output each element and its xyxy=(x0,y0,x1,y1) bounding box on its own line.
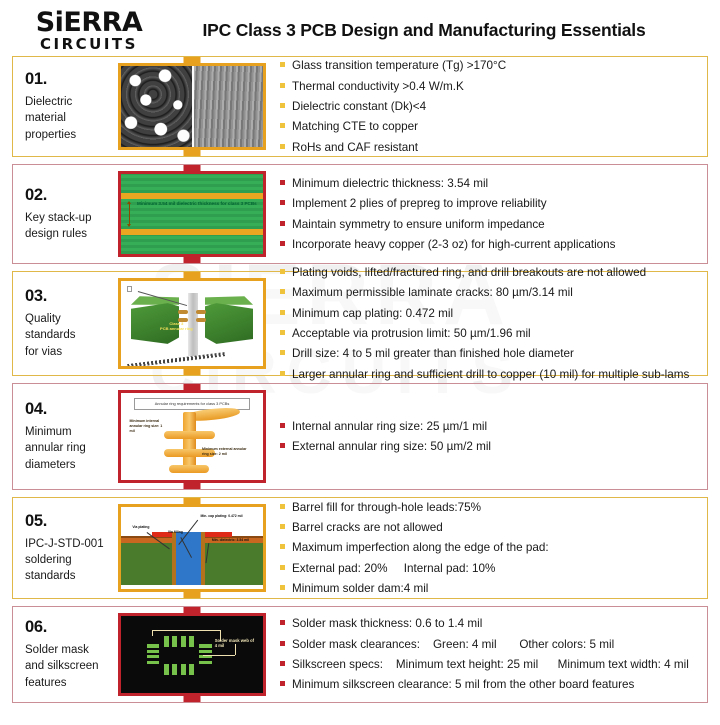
connector-tab-top xyxy=(184,57,201,65)
sem-right-texture xyxy=(192,66,263,147)
section-01-number: 01. xyxy=(25,70,114,89)
bullet-text: Barrel cracks are not allowed xyxy=(292,520,443,535)
dielectric-sem-micrograph xyxy=(118,63,266,150)
annular-ring-barrel xyxy=(183,412,196,473)
component-pad xyxy=(189,636,194,647)
via-board-right xyxy=(205,303,253,344)
bullet-dot-icon xyxy=(280,585,285,590)
bullet-dot-icon xyxy=(280,620,285,625)
bullet-item: Incorporate heavy copper (2-3 oz) for hi… xyxy=(280,237,699,252)
bullet-item: Thermal conductivity >0.4 W/m.K xyxy=(280,79,699,94)
bullet-item: Drill size: 4 to 5 mil greater than fini… xyxy=(280,346,699,361)
component-pad xyxy=(147,661,160,664)
bullet-text: Incorporate heavy copper (2-3 oz) for hi… xyxy=(292,237,616,252)
bullet-text: External annular ring size: 50 µm/2 mil xyxy=(292,439,491,454)
annular-ring-diagram: Annular ring requirements for class 3 PC… xyxy=(118,390,266,483)
section-03-number: 03. xyxy=(25,287,114,306)
via-scale-bar xyxy=(127,352,226,366)
bullet-text: Plating voids, lifted/fractured ring, an… xyxy=(292,265,646,280)
dimension-arrow-icon xyxy=(129,202,130,226)
section-02-bullets: Minimum dielectric thickness: 3.54 mil I… xyxy=(266,165,707,263)
sem-left-texture xyxy=(121,66,192,147)
section-01-bullets: Glass transition temperature (Tg) >170°C… xyxy=(266,57,707,156)
bullet-dot-icon xyxy=(280,681,285,686)
bullet-text: Minimum solder dam:4 mil xyxy=(292,581,428,596)
bullet-text: Barrel fill for through-hole leads:75% xyxy=(292,500,481,515)
connector-tab-top xyxy=(184,498,201,506)
component-pad xyxy=(172,636,177,647)
bullet-item: External pad: 20% Internal pad: 10% xyxy=(280,561,699,576)
bullet-dot-icon xyxy=(280,443,285,448)
component-pad xyxy=(199,650,212,653)
section-02-title: Key stack-up design rules xyxy=(25,210,114,243)
component-pad xyxy=(199,644,212,647)
connector-tab-top xyxy=(184,607,201,615)
callout-line xyxy=(203,655,234,656)
component-pad xyxy=(181,664,186,675)
bullet-text: External pad: 20% Internal pad: 10% xyxy=(292,561,495,576)
section-03-label: 03. Quality standards for vias xyxy=(13,272,114,375)
via-annular-pad xyxy=(196,318,206,322)
callout-line xyxy=(152,630,153,636)
bullet-text: Drill size: 4 to 5 mil greater than fini… xyxy=(292,346,574,361)
bullet-dot-icon xyxy=(280,371,285,376)
via-illustration: Class 3 PCB annular ring xyxy=(121,281,263,366)
bullet-dot-icon xyxy=(280,350,285,355)
bullet-item: Internal annular ring size: 25 µm/1 mil xyxy=(280,419,699,434)
connector-tab-bottom xyxy=(184,255,201,263)
bullet-dot-icon xyxy=(280,83,285,88)
bullet-item: Minimum dielectric thickness: 3.54 mil xyxy=(280,176,699,191)
bullet-item: Matching CTE to copper xyxy=(280,119,699,134)
bullet-item: Solder mask clearances: Green: 4 mil Oth… xyxy=(280,637,699,652)
bullet-item: Maintain symmetry to ensure uniform impe… xyxy=(280,217,699,232)
bullet-text: Maximum permissible laminate cracks: 80 … xyxy=(292,285,573,300)
bullet-text: Minimum dielectric thickness: 3.54 mil xyxy=(292,176,488,191)
connector-tab-bottom xyxy=(184,590,201,598)
bullet-item: Dielectric constant (Dk)<4 xyxy=(280,99,699,114)
stackup-dielectric-layer: Minimum 3.54 mil dielectric thickness fo… xyxy=(121,199,263,229)
component-pad xyxy=(181,636,186,647)
solder-note-dielectric: Min. dielectric: 3.54 mil xyxy=(212,538,257,542)
stackup-caption: Minimum 3.54 mil dielectric thickness fo… xyxy=(137,201,259,207)
sierra-circuits-logo: SiERRA CIRCUITS xyxy=(14,9,164,52)
sem-divider xyxy=(192,66,194,147)
bullet-text: Dielectric constant (Dk)<4 xyxy=(292,99,426,114)
bullet-dot-icon xyxy=(280,62,285,67)
pcb-stackup-diagram: Minimum 3.54 mil dielectric thickness fo… xyxy=(118,171,266,257)
callout-line xyxy=(152,630,220,631)
bullet-item: Barrel fill for through-hole leads:75% xyxy=(280,500,699,515)
bullet-text: Larger annular ring and sufficient drill… xyxy=(292,367,689,382)
bullet-dot-icon xyxy=(280,641,285,646)
bullet-dot-icon xyxy=(280,269,285,274)
bullet-dot-icon xyxy=(280,180,285,185)
component-pad xyxy=(164,636,169,647)
bullet-text: Minimum silkscreen clearance: 5 mil from… xyxy=(292,677,634,692)
bullet-dot-icon xyxy=(280,144,285,149)
component-pad xyxy=(172,664,177,675)
stackup-layer-top-core xyxy=(121,174,263,193)
solder-mask-silkscreen-diagram: Solder mask web of 4 mil xyxy=(118,613,266,696)
bullet-dot-icon xyxy=(280,103,285,108)
section-04-minimum-annular-ring-diameters: 04. Minimum annular ring diameters Annul… xyxy=(12,383,708,490)
bullet-text: Solder mask clearances: Green: 4 mil Oth… xyxy=(292,637,614,652)
connector-tab-bottom xyxy=(184,148,201,156)
section-04-title: Minimum annular ring diameters xyxy=(25,424,114,473)
bullet-dot-icon xyxy=(280,123,285,128)
stackup-layers: Minimum 3.54 mil dielectric thickness fo… xyxy=(121,174,263,254)
bullet-dot-icon xyxy=(280,200,285,205)
bullet-text: Internal annular ring size: 25 µm/1 mil xyxy=(292,419,487,434)
sections-list: 01. Dielectric material properties Glass… xyxy=(0,56,720,703)
bullet-item: Silkscreen specs: Minimum text height: 2… xyxy=(280,657,699,672)
component-pad xyxy=(189,664,194,675)
bullet-dot-icon xyxy=(280,310,285,315)
component-pad xyxy=(147,644,160,647)
annular-ring-bottom-pad xyxy=(169,465,209,473)
bullet-item: Acceptable via protrusion limit: 50 µm/1… xyxy=(280,326,699,341)
bullet-text: Minimum cap plating: 0.472 mil xyxy=(292,306,453,321)
section-03-title: Quality standards for vias xyxy=(25,311,114,360)
bullet-item: RoHs and CAF resistant xyxy=(280,140,699,155)
bullet-dot-icon xyxy=(280,289,285,294)
bullet-dot-icon xyxy=(280,661,285,666)
bullet-item: Maximum permissible laminate cracks: 80 … xyxy=(280,285,699,300)
bullet-dot-icon xyxy=(280,524,285,529)
page-title: IPC Class 3 PCB Design and Manufacturing… xyxy=(164,20,720,41)
solder-bottom-layer xyxy=(121,585,263,589)
bullet-item: Barrel cracks are not allowed xyxy=(280,520,699,535)
via-caption: Class 3 PCB annular ring xyxy=(159,321,193,331)
figure-art: Minimum 3.54 mil dielectric thickness fo… xyxy=(121,174,263,254)
bullet-text: Glass transition temperature (Tg) >170°C xyxy=(292,58,506,73)
soldering-cross-section-diagram: Via plating Via filling Min. cap plating… xyxy=(118,504,266,592)
section-05-title: IPC-J-STD-001 soldering standards xyxy=(25,536,114,585)
connector-tab-top xyxy=(184,384,201,392)
via-callout-tag xyxy=(127,286,132,292)
section-05-bullets: Barrel fill for through-hole leads:75% B… xyxy=(266,498,707,598)
section-03-quality-standards-for-vias: 03. Quality standards for vias Class 3 P… xyxy=(12,271,708,376)
bullet-dot-icon xyxy=(280,504,285,509)
section-04-label: 04. Minimum annular ring diameters xyxy=(13,384,114,489)
bullet-text: Solder mask thickness: 0.6 to 1.4 mil xyxy=(292,616,482,631)
section-05-label: 05. IPC-J-STD-001 soldering standards xyxy=(13,498,114,598)
bullet-text: Acceptable via protrusion limit: 50 µm/1… xyxy=(292,326,531,341)
section-06-solder-mask-and-silkscreen-features: 06. Solder mask and silkscreen features xyxy=(12,606,708,703)
section-04-number: 04. xyxy=(25,400,114,419)
logo-wordmark: SiERRA xyxy=(36,9,143,36)
annular-ring-illustration: Annular ring requirements for class 3 PC… xyxy=(121,393,263,480)
bullet-text: Maximum imperfection along the edge of t… xyxy=(292,540,549,555)
section-03-bullets: Plating voids, lifted/fractured ring, an… xyxy=(266,272,707,375)
bullet-text: Maintain symmetry to ensure uniform impe… xyxy=(292,217,545,232)
figure-art: Class 3 PCB annular ring xyxy=(121,281,263,366)
bullet-text: Thermal conductivity >0.4 W/m.K xyxy=(292,79,464,94)
bullet-item: Minimum cap plating: 0.472 mil xyxy=(280,306,699,321)
annular-ring-note-external: Minimum external annular ring size: 2 mi… xyxy=(202,447,250,457)
component-pad xyxy=(147,650,160,653)
figure-art: Solder mask web of 4 mil xyxy=(121,616,263,693)
stackup-layer-bottom-core xyxy=(121,235,263,254)
bullet-item: Solder mask thickness: 0.6 to 1.4 mil xyxy=(280,616,699,631)
figure-art: Via plating Via filling Min. cap plating… xyxy=(121,507,263,589)
bullet-item: Minimum solder dam:4 mil xyxy=(280,581,699,596)
component-pad xyxy=(147,655,160,658)
solder-mask-illustration: Solder mask web of 4 mil xyxy=(121,616,263,693)
bullet-text: Implement 2 plies of prepreg to improve … xyxy=(292,196,547,211)
section-06-bullets: Solder mask thickness: 0.6 to 1.4 mil So… xyxy=(266,607,707,702)
section-05-number: 05. xyxy=(25,512,114,531)
bullet-text: Matching CTE to copper xyxy=(292,119,418,134)
via-quality-3d-diagram: Class 3 PCB annular ring xyxy=(118,278,266,369)
solder-note-plating: Via plating xyxy=(132,525,163,529)
figure-art xyxy=(121,66,263,147)
section-04-bullets: Internal annular ring size: 25 µm/1 mil … xyxy=(266,384,707,489)
bullet-item: Plating voids, lifted/fractured ring, an… xyxy=(280,265,699,280)
connector-tab-top xyxy=(184,272,201,280)
soldering-illustration: Via plating Via filling Min. cap plating… xyxy=(121,507,263,589)
solder-mask-web-caption: Solder mask web of 4 mil xyxy=(215,638,258,649)
bullet-item: Glass transition temperature (Tg) >170°C xyxy=(280,58,699,73)
bullet-dot-icon xyxy=(280,565,285,570)
component-pad xyxy=(199,661,212,664)
via-board-top-right xyxy=(205,296,253,305)
section-05-ipc-j-std-001-soldering-standards: 05. IPC-J-STD-001 soldering standards Vi… xyxy=(12,497,708,599)
component-pad xyxy=(164,664,169,675)
component-pad xyxy=(199,655,212,658)
bullet-item: Larger annular ring and sufficient drill… xyxy=(280,367,699,382)
bullet-item: Minimum silkscreen clearance: 5 mil from… xyxy=(280,677,699,692)
plated-through-hole xyxy=(172,532,205,589)
bullet-dot-icon xyxy=(280,330,285,335)
bullet-dot-icon xyxy=(280,221,285,226)
section-02-number: 02. xyxy=(25,186,114,205)
connector-tab-bottom xyxy=(184,694,201,702)
via-annular-pad xyxy=(178,310,188,314)
connector-tab-bottom xyxy=(184,481,201,489)
bullet-item: External annular ring size: 50 µm/2 mil xyxy=(280,439,699,454)
section-06-number: 06. xyxy=(25,618,114,637)
section-06-title: Solder mask and silkscreen features xyxy=(25,642,114,691)
bullet-text: Silkscreen specs: Minimum text height: 2… xyxy=(292,657,689,672)
connector-tab-top xyxy=(184,165,201,173)
bullet-text: RoHs and CAF resistant xyxy=(292,140,418,155)
bullet-item: Maximum imperfection along the edge of t… xyxy=(280,540,699,555)
section-01-label: 01. Dielectric material properties xyxy=(13,57,114,156)
annular-ring-internal-pad xyxy=(164,431,215,439)
annular-ring-note-internal: Minimum internal annular ring size: 1 mi… xyxy=(130,419,167,434)
bullet-dot-icon xyxy=(280,423,285,428)
section-01-title: Dielectric material properties xyxy=(25,94,114,143)
solder-note-cap-plating: Min. cap plating: 0.472 mil xyxy=(201,514,249,518)
via-annular-pad xyxy=(196,310,206,314)
section-01-dielectric-material-properties: 01. Dielectric material properties Glass… xyxy=(12,56,708,157)
logo-subtext: CIRCUITS xyxy=(40,37,138,52)
bullet-dot-icon xyxy=(280,241,285,246)
bullet-dot-icon xyxy=(280,544,285,549)
connector-tab-bottom xyxy=(184,367,201,375)
section-06-label: 06. Solder mask and silkscreen features xyxy=(13,607,114,702)
page-header: SiERRA CIRCUITS IPC Class 3 PCB Design a… xyxy=(0,0,720,56)
figure-art: Annular ring requirements for class 3 PC… xyxy=(121,393,263,480)
section-02-key-stackup-design-rules: 02. Key stack-up design rules Minimum 3.… xyxy=(12,164,708,264)
bullet-item: Implement 2 plies of prepreg to improve … xyxy=(280,196,699,211)
section-02-label: 02. Key stack-up design rules xyxy=(13,165,114,263)
